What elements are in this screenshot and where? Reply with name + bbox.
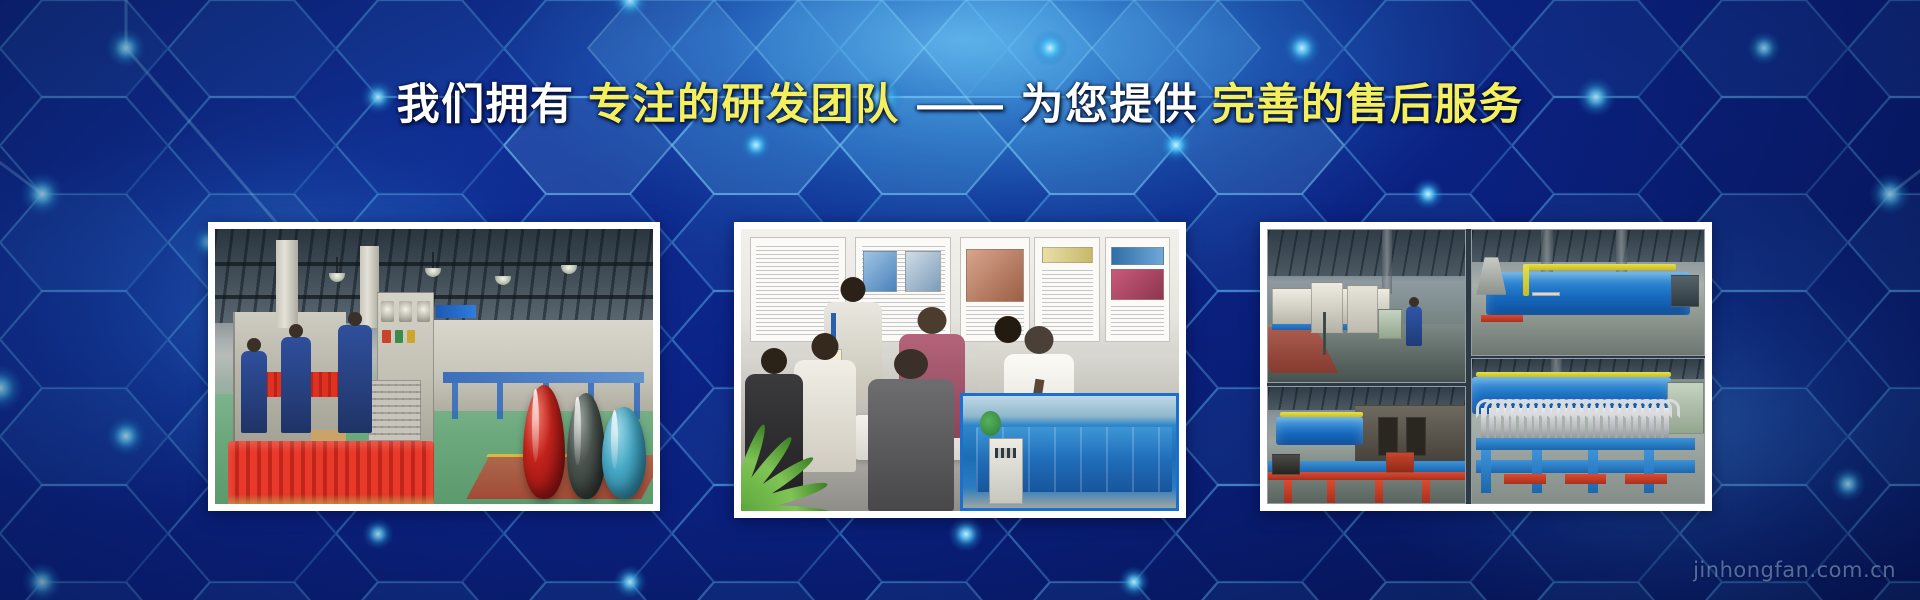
doorway — [1406, 417, 1426, 457]
yellow-gas-pipe — [1523, 264, 1676, 270]
conveyor-rail — [1476, 438, 1694, 450]
yellow-riser-pipe — [1523, 264, 1529, 296]
poster-text-lines — [1042, 267, 1093, 335]
palm-frond — [741, 504, 833, 511]
blue-tunnel-kiln — [1486, 272, 1690, 314]
blue-tunnel-section — [1276, 417, 1363, 445]
tunnel-blue-band — [443, 372, 645, 383]
gauge-icon — [399, 301, 412, 322]
floor-stand-pole — [1323, 312, 1326, 355]
conveyor-leg — [1532, 450, 1542, 493]
machine-label-plate — [436, 305, 476, 317]
button-row — [382, 330, 415, 344]
red-motor-unit — [1386, 452, 1414, 473]
wall-poster — [1105, 237, 1171, 341]
valve-manifold — [1532, 292, 1560, 296]
equipment-inset-image — [960, 393, 1179, 511]
conveyor-rail-lower — [1476, 460, 1694, 473]
conveyor-leg — [1588, 450, 1598, 493]
conveyor-leg — [1284, 480, 1292, 503]
factory-worker — [338, 325, 372, 433]
meeting-participant-back — [868, 379, 954, 511]
collage-panel-hook-conveyor — [1471, 358, 1705, 504]
photo-glass-production-line — [215, 229, 653, 504]
hall-roof-trusses — [1472, 230, 1704, 262]
conveyor-red-frame — [1625, 474, 1667, 484]
conveyor-leg — [1375, 480, 1383, 503]
conveyor-leg — [1327, 480, 1335, 503]
yellow-gas-pipe — [1476, 372, 1671, 377]
certificate-thumbnail — [1042, 247, 1093, 263]
collage-panel-annealing-line — [1267, 229, 1466, 383]
plastic-crate — [368, 380, 421, 441]
potted-palm-plant — [741, 404, 859, 511]
yellow-gas-pipe — [1280, 412, 1363, 417]
poster-thumbnail — [1111, 269, 1164, 300]
conveyor-leg — [1644, 450, 1654, 493]
gauge-icon — [417, 301, 430, 322]
poster-thumbnail — [905, 251, 941, 292]
poster-text-lines — [1111, 304, 1165, 335]
hall-column — [1616, 230, 1628, 277]
hanger-hook-icon — [1664, 408, 1669, 440]
photo-frame-glass-production-line[interactable] — [208, 222, 660, 511]
photo-gallery — [0, 222, 1920, 518]
support-leg — [497, 383, 503, 419]
photo-equipment-collage — [1267, 229, 1705, 504]
page-title: 我们拥有 专注的研发团队 —— 为您提供 完善的售后服务 — [0, 84, 1920, 127]
conveyor-leg — [1422, 480, 1430, 503]
green-button-icon — [395, 330, 403, 344]
factory-worker — [281, 337, 311, 433]
kiln-end-drive — [1671, 275, 1699, 307]
hook-row — [1481, 408, 1672, 440]
gauge-cluster — [381, 301, 429, 322]
conveyor-red-frame — [1481, 315, 1523, 322]
photo-frame-equipment-collage[interactable] — [1260, 222, 1712, 511]
hall-column — [1382, 230, 1392, 294]
headline-separator: —— — [913, 81, 1007, 129]
red-glass-blanks-pile — [228, 441, 434, 504]
collage-panel-blue-tunnel-kiln — [1471, 229, 1705, 356]
promotional-banner: 我们拥有 专注的研发团队 —— 为您提供 完善的售后服务 — [0, 0, 1920, 600]
poster-thumbnail — [966, 249, 1023, 302]
collage-panel-conveyor-chain — [1267, 386, 1466, 504]
conveyor-red-frame — [1565, 474, 1607, 484]
headline-segment-4: 完善的售后服务 — [1212, 81, 1524, 129]
support-leg — [452, 383, 458, 419]
exhaust-duct — [276, 240, 298, 328]
headline-segment-3: 为您提供 — [1020, 81, 1198, 129]
control-cabinet — [989, 438, 1023, 503]
headline-segment-1: 我们拥有 — [397, 81, 575, 129]
poster-thumbnail — [1111, 247, 1164, 265]
control-cabinet — [1347, 285, 1379, 334]
conveyor-leg — [1481, 450, 1491, 493]
chain-drive-unit — [1272, 454, 1300, 475]
conveyor-red-frame — [1504, 474, 1546, 484]
factory-worker — [1406, 306, 1422, 346]
green-equipment-box — [1378, 309, 1402, 339]
headline-segment-2: 专注的研发团队 — [588, 81, 900, 129]
hall-roof-trusses — [1268, 230, 1465, 276]
photo-frame-customer-meeting[interactable] — [734, 222, 1186, 518]
doorway — [1378, 417, 1398, 457]
photo-customer-meeting — [741, 229, 1179, 511]
end-cabinet — [1311, 282, 1343, 334]
yellow-button-icon — [407, 330, 415, 344]
red-button-icon — [382, 330, 390, 344]
factory-worker — [241, 351, 267, 433]
gauge-icon — [381, 301, 394, 322]
site-watermark: jinhongfan.com.cn — [1693, 558, 1896, 582]
poster-thumbnail — [863, 251, 897, 292]
